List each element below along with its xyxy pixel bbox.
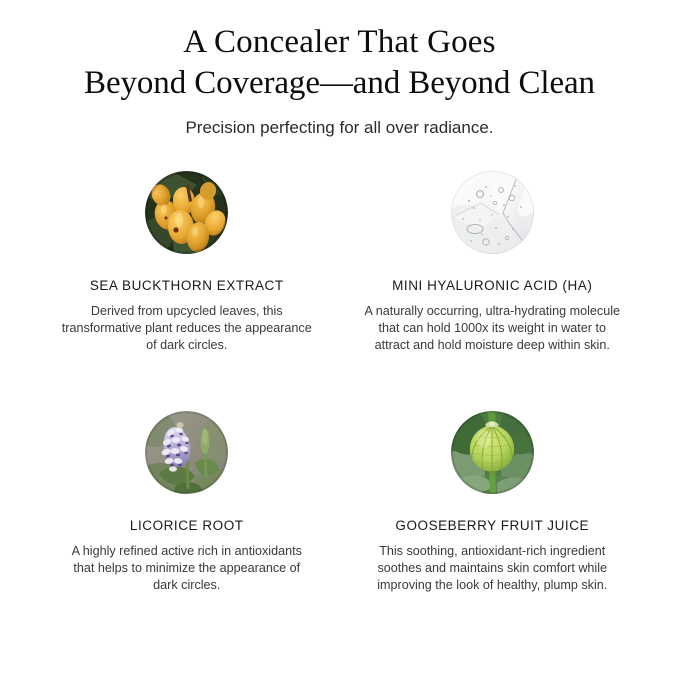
ingredient-title: SEA BUCKTHORN EXTRACT bbox=[42, 278, 332, 294]
page-header: A Concealer That Goes Beyond Coverage—an… bbox=[0, 0, 679, 139]
ingredient-card-licorice-root: LICORICE ROOT A highly refined active ri… bbox=[34, 411, 340, 595]
page-subtitle: Precision perfecting for all over radian… bbox=[0, 104, 679, 139]
ingredient-title: GOOSEBERRY FRUIT JUICE bbox=[348, 518, 638, 534]
page-title: A Concealer That Goes Beyond Coverage—an… bbox=[0, 22, 679, 104]
ingredient-description: A highly refined active rich in antioxid… bbox=[61, 543, 313, 595]
thumbnail-wrapper bbox=[42, 411, 332, 495]
ingredient-description: A naturally occurring, ultra-hydrating m… bbox=[361, 303, 623, 355]
ingredient-title: MINI HYALURONIC ACID (HA) bbox=[348, 278, 638, 294]
ingredient-description: This soothing, antioxidant-rich ingredie… bbox=[361, 543, 623, 595]
ingredient-card-gooseberry: GOOSEBERRY FRUIT JUICE This soothing, an… bbox=[340, 411, 646, 595]
ingredient-description: Derived from upcycled leaves, this trans… bbox=[61, 303, 313, 355]
ingredient-card-hyaluronic-acid: MINI HYALURONIC ACID (HA) A naturally oc… bbox=[340, 171, 646, 355]
ingredient-grid: SEA BUCKTHORN EXTRACT Derived from upcyc… bbox=[0, 171, 679, 594]
hyaluronic-acid-gel-texture-photo bbox=[451, 171, 534, 254]
thumbnail-wrapper bbox=[42, 171, 332, 255]
page-title-line-1: A Concealer That Goes bbox=[30, 22, 649, 63]
ingredient-title: LICORICE ROOT bbox=[42, 518, 332, 534]
page-title-line-2: Beyond Coverage—and Beyond Clean bbox=[30, 63, 649, 104]
licorice-root-flower-photo bbox=[145, 411, 228, 494]
gooseberry-fruit-photo bbox=[451, 411, 534, 494]
thumbnail-wrapper bbox=[348, 171, 638, 255]
thumbnail-wrapper bbox=[348, 411, 638, 495]
ingredient-benefits-page: A Concealer That Goes Beyond Coverage—an… bbox=[0, 0, 679, 679]
ingredient-card-sea-buckthorn: SEA BUCKTHORN EXTRACT Derived from upcyc… bbox=[34, 171, 340, 355]
sea-buckthorn-berries-photo bbox=[145, 171, 228, 254]
